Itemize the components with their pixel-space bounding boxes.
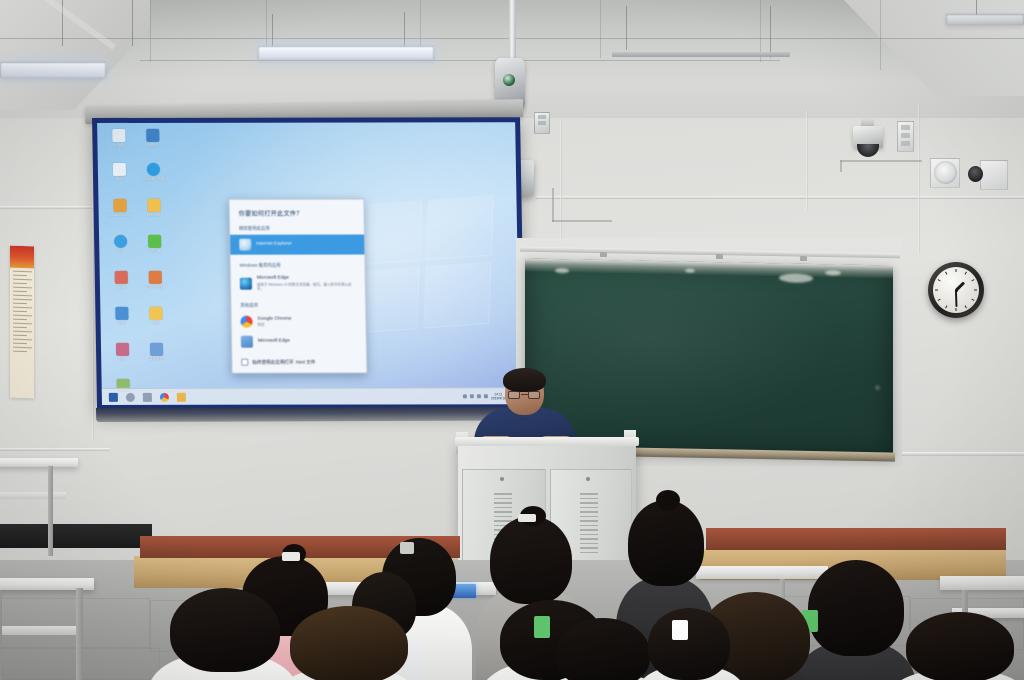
wps-icon <box>115 307 128 320</box>
clock-face <box>933 267 979 313</box>
edge-icon <box>240 277 252 289</box>
folder-icon <box>149 307 162 320</box>
ceiling-light-1 <box>0 62 106 78</box>
desktop-icon[interactable]: 此电脑 <box>105 129 131 147</box>
app-name: Google Chrome <box>257 316 356 322</box>
podium-knob-left[interactable] <box>500 477 504 481</box>
section-recommended-label: Windows 推荐的应用 <box>230 255 364 272</box>
battery-icon[interactable] <box>484 394 488 398</box>
app-description: 网页 <box>258 323 357 328</box>
app-name: Internet Explorer <box>256 242 355 248</box>
wall-speaker-right <box>980 160 1008 190</box>
always-use-checkbox-row[interactable]: 始终使用此应用打开 .html 文件 <box>232 352 366 368</box>
video-icon <box>115 343 128 356</box>
this-pc-icon <box>112 129 125 142</box>
app-name: Microsoft Edge <box>258 339 357 345</box>
section-other-label: 其他选项 <box>231 295 365 312</box>
clock-center-pin <box>955 289 958 292</box>
wall-outlet-box <box>534 112 550 134</box>
chrome-icon[interactable] <box>160 392 169 401</box>
network-icon[interactable] <box>470 394 474 398</box>
projection-screen: 此电脑 回收站 网络 360安全浏览器 Adobe Acrobat 教务系统 <box>92 117 525 412</box>
network-icon <box>112 163 125 176</box>
bench-right <box>696 566 828 579</box>
desktop-icon[interactable]: 教务系统 <box>140 199 166 217</box>
recycle-bin-icon <box>146 129 159 142</box>
app-description: 适用于 Windows 10 的新式浏览器。轻扫、键入和书写得心应手。 <box>257 282 356 291</box>
desktop-icon[interactable]: PowerPoint <box>142 271 168 289</box>
wall-notice-poster <box>10 246 34 399</box>
app-option-microsoft-edge-other[interactable]: Microsoft Edge <box>232 332 366 352</box>
windows-logo-watermark <box>354 195 494 333</box>
empty-desk-front-leg <box>76 588 83 680</box>
wechat-icon <box>148 235 161 248</box>
bench-far-right <box>940 576 1024 590</box>
wall-clock <box>928 262 984 318</box>
desktop-icon[interactable]: WPS <box>108 307 134 325</box>
desktop-icon[interactable]: 录屏软件 <box>143 343 169 361</box>
app-option-google-chrome[interactable]: Google Chrome 网页 <box>231 312 365 332</box>
start-button[interactable] <box>109 392 118 401</box>
speaker-cone-left-icon <box>934 161 957 184</box>
always-use-checkbox[interactable] <box>241 359 248 366</box>
acrobat-icon <box>113 199 126 212</box>
empty-desk-back-shelf <box>0 492 66 499</box>
chrome-icon <box>240 316 252 328</box>
teacher-hair <box>503 368 546 392</box>
file-explorer-icon[interactable] <box>177 392 186 401</box>
empty-desk-back-top <box>0 458 78 467</box>
desktop-icon[interactable]: Adobe Acrobat <box>106 199 132 217</box>
speaker-cone-right-icon <box>968 166 983 182</box>
search-icon[interactable] <box>126 392 135 401</box>
taskbar-clock[interactable]: 14:11 2019/9/10 <box>491 392 506 400</box>
classroom-photo: 此电脑 回收站 网络 360安全浏览器 Adobe Acrobat 教务系统 <box>0 0 1024 680</box>
app-option-internet-explorer[interactable]: Internet Explorer <box>230 235 364 255</box>
desktop-icon[interactable]: QQ <box>107 235 133 253</box>
windows-desktop: 此电脑 回收站 网络 360安全浏览器 Adobe Acrobat 教务系统 <box>97 122 520 405</box>
projector-pole <box>509 0 516 66</box>
ceiling-light-4 <box>946 14 1024 25</box>
desktop-icon[interactable]: 视频 <box>109 343 135 361</box>
app-option-microsoft-edge-recommended[interactable]: Microsoft Edge 适用于 Windows 10 的新式浏览器。轻扫、… <box>231 272 365 296</box>
podium-knob-right[interactable] <box>586 477 590 481</box>
ceiling-light-3 <box>612 52 790 57</box>
wall-base-skirt <box>0 524 152 548</box>
desktop-icon[interactable]: 课件 <box>142 307 168 325</box>
app-name: Microsoft Edge <box>257 276 356 282</box>
poster-header <box>10 246 34 269</box>
platform-top-right <box>706 528 1006 550</box>
edge-blue-icon <box>241 336 253 348</box>
powerpoint-icon <box>148 271 161 284</box>
projection-screen-bottom-bar <box>96 406 528 422</box>
projector-lens-icon <box>503 74 515 86</box>
dialog-title: 你要如何打开此文件？ <box>229 200 363 218</box>
empty-desk-back-leg <box>48 466 53 556</box>
qq-icon <box>114 235 127 248</box>
word-icon <box>114 271 127 284</box>
clock-date: 2019/9/10 <box>491 396 506 400</box>
desktop-icon[interactable]: Word <box>108 271 134 289</box>
desktop-icon[interactable]: 360安全浏览器 <box>140 163 166 181</box>
folder-icon <box>147 199 160 212</box>
wall-junction-box <box>897 121 914 152</box>
volume-icon[interactable] <box>477 394 481 398</box>
internet-explorer-icon <box>239 239 251 251</box>
blackboard <box>525 258 893 457</box>
always-use-label: 始终使用此应用打开 .html 文件 <box>252 359 315 365</box>
section-keep-using-label: 继续使用此应用 <box>230 218 364 235</box>
desktop-icon[interactable]: 网络 <box>106 163 132 181</box>
open-with-dialog[interactable]: 你要如何打开此文件？ 继续使用此应用 Internet Explorer Win… <box>228 199 367 374</box>
recorder-icon <box>149 343 162 356</box>
desktop-icon[interactable]: WeChat <box>141 235 167 253</box>
desktop-icon[interactable]: 回收站 <box>139 129 165 147</box>
teacher-glasses <box>508 391 541 399</box>
ceiling-light-2 <box>258 46 434 60</box>
task-view-icon[interactable] <box>143 392 152 401</box>
browser-360-icon <box>146 163 159 176</box>
empty-desk-front-shelf <box>0 626 82 635</box>
windows-taskbar[interactable]: 14:11 2019/9/10 <box>102 387 520 405</box>
empty-desk-front-leg-2 <box>0 590 2 680</box>
show-hidden-icons-icon[interactable] <box>463 394 467 398</box>
podium-vent-right <box>580 493 598 556</box>
